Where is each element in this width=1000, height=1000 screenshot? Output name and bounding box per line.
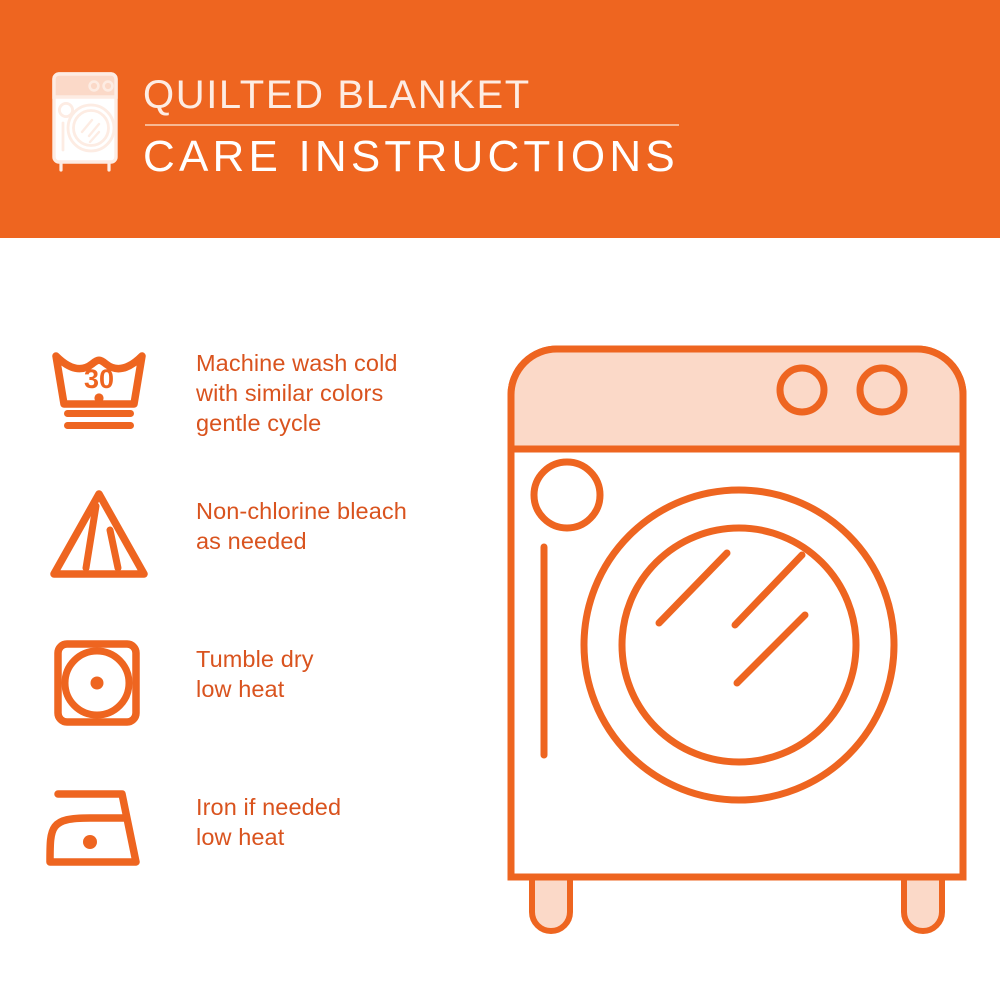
- care-item-iron: Iron if needed low heat: [44, 774, 474, 922]
- care-item-text: Iron if needed low heat: [174, 774, 474, 852]
- washing-machine-icon: [44, 66, 140, 176]
- care-text-line: Machine wash cold: [196, 348, 474, 378]
- care-item-tumble-dry: Tumble dry low heat: [44, 626, 474, 774]
- care-text-line: Non-chlorine bleach: [196, 496, 474, 526]
- page-title-secondary: CARE INSTRUCTIONS: [143, 130, 703, 184]
- iron-low-heat-icon: [44, 774, 174, 880]
- washing-machine-illustration: [487, 325, 987, 940]
- care-text-line: as needed: [196, 526, 474, 556]
- tumble-dry-low-heat-icon: [44, 626, 174, 732]
- wash-temperature-label: 30: [84, 364, 114, 394]
- header-banner: QUILTED BLANKET CARE INSTRUCTIONS: [0, 0, 1000, 238]
- care-item-bleach: Non-chlorine bleach as needed: [44, 478, 474, 626]
- care-instructions-infographic: QUILTED BLANKET CARE INSTRUCTIONS 30 Mac…: [0, 0, 1000, 1000]
- care-item-machine-wash: 30 Machine wash cold with similar colors…: [44, 330, 474, 478]
- page-title-primary: QUILTED BLANKET: [143, 72, 703, 118]
- care-instruction-list: 30 Machine wash cold with similar colors…: [44, 330, 474, 922]
- header-title-group: QUILTED BLANKET CARE INSTRUCTIONS: [143, 72, 703, 184]
- control-panel: [511, 349, 963, 449]
- title-divider: [145, 124, 679, 126]
- care-text-line: low heat: [196, 822, 474, 852]
- care-text-line: Iron if needed: [196, 792, 474, 822]
- care-item-text: Tumble dry low heat: [174, 626, 474, 704]
- care-text-line: Tumble dry: [196, 644, 474, 674]
- care-text-line: low heat: [196, 674, 474, 704]
- care-text-line: gentle cycle: [196, 408, 474, 438]
- wash-tub-30-gentle-icon: 30: [44, 330, 174, 436]
- care-text-line: with similar colors: [196, 378, 474, 408]
- non-chlorine-bleach-triangle-icon: [44, 478, 174, 584]
- care-item-text: Non-chlorine bleach as needed: [174, 478, 474, 556]
- care-item-text: Machine wash cold with similar colors ge…: [174, 330, 474, 438]
